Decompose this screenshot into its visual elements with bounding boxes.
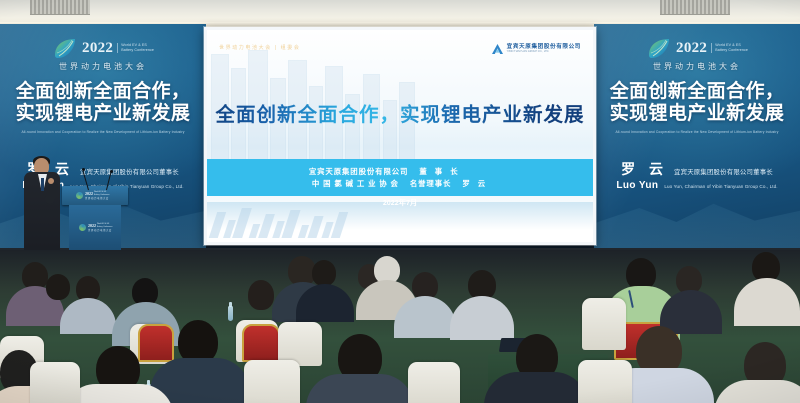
audience-shoulders bbox=[60, 298, 116, 334]
audience-head bbox=[312, 260, 336, 286]
audience-shoulders bbox=[714, 380, 800, 403]
globe-icon bbox=[646, 36, 672, 60]
podium-logo-front: 2022 World EV & ES Battery Conference 世界… bbox=[79, 223, 115, 232]
globe-icon bbox=[79, 224, 86, 231]
audience-shoulders bbox=[734, 278, 800, 326]
speaker-name-en: Luo Yun bbox=[616, 180, 658, 191]
audience-head bbox=[46, 274, 70, 300]
credits-org-1: 宜宾天原集团股份有限公司 bbox=[309, 166, 409, 177]
speaker-name-cn: 罗 云 bbox=[621, 159, 668, 179]
podium-logo-cn: 世界动力电池大会 bbox=[85, 196, 112, 200]
slide-credits-row-1: 宜宾天原集团股份有限公司 董 事 长 罗 云 bbox=[309, 166, 491, 177]
ceiling-vent-right bbox=[660, 0, 730, 15]
microphone-head-left bbox=[82, 168, 85, 171]
projection-screen: 世界动力电池大会 | 组委会 宜宾天原集团股份有限公司 YIBIN TIANYU… bbox=[204, 27, 596, 245]
audience-chair bbox=[242, 324, 280, 362]
conference-logo-year: 2022 bbox=[676, 41, 707, 56]
conference-logo-year: 2022 bbox=[82, 41, 113, 56]
speaker-role-en: Luo Yun, Chairman of Yibin Tianyuan Grou… bbox=[664, 184, 777, 189]
credits-org-2: 中 国 氯 碱 工 业 协 会 bbox=[312, 178, 399, 189]
banner-subtitle-english: All-round Innovation and Cooperation to … bbox=[608, 130, 786, 135]
mountain-a-icon bbox=[491, 42, 504, 54]
speaker-role-cn: 宜宾天原集团股份有限公司董事长 bbox=[80, 167, 179, 176]
corporate-name-en: YIBIN TIANYUAN GROUP CO., LTD. bbox=[507, 50, 581, 53]
conference-logo-english: World EV & ES Battery Conference bbox=[117, 43, 154, 53]
audience-chair bbox=[582, 298, 626, 350]
globe-icon bbox=[76, 192, 83, 199]
audience-area bbox=[0, 250, 800, 403]
audience-head bbox=[248, 280, 274, 310]
corporate-name-cn: 宜宾天原集团股份有限公司 bbox=[507, 42, 581, 50]
presentation-slide: 世界动力电池大会 | 组委会 宜宾天原集团股份有限公司 YIBIN TIANYU… bbox=[207, 30, 593, 242]
audience-chair bbox=[244, 360, 300, 403]
speaker-role-cn: 宜宾天原集团股份有限公司董事长 bbox=[674, 167, 773, 176]
slide-credits-band: 宜宾天原集团股份有限公司 董 事 长 罗 云 中 国 氯 碱 工 业 协 会 名… bbox=[207, 159, 593, 196]
ceiling-vent-left bbox=[30, 0, 90, 15]
banner-title: 全面创新全面合作， 实现锂电产业新发展 bbox=[610, 81, 785, 126]
audience-shoulders bbox=[450, 296, 514, 340]
audience-chair bbox=[408, 362, 460, 403]
microphone-head-right bbox=[110, 170, 113, 173]
slide-watermark: 世界动力电池大会 | 组委会 bbox=[219, 44, 300, 51]
conference-logo-chinese: 世界动力电池大会 bbox=[653, 61, 741, 72]
credits-role-1: 董 事 长 bbox=[419, 166, 460, 177]
credits-name: 罗 云 bbox=[462, 178, 488, 189]
slide-footer-graphic bbox=[207, 202, 593, 242]
audience-chair bbox=[578, 360, 632, 403]
podium: 2022 World EV & ES Battery Conference 世界… bbox=[62, 186, 128, 250]
podium-logo-cn: 世界动力电池大会 bbox=[88, 228, 115, 232]
audience-chair bbox=[30, 362, 80, 403]
banner-speaker-en-right: Luo Yun Luo Yun, Chairman of Yibin Tiany… bbox=[616, 180, 777, 191]
banner-subtitle-english: All-round Innovation and Cooperation to … bbox=[14, 130, 192, 135]
conference-hall-photo: 2022 World EV & ES Battery Conference 世界… bbox=[0, 0, 800, 403]
audience-shoulders bbox=[306, 374, 414, 403]
banner-title: 全面创新全面合作， 实现锂电产业新发展 bbox=[16, 81, 191, 126]
credits-role-2: 名誉理事长 bbox=[410, 178, 451, 189]
banner-speaker-cn-right: 罗 云 宜宾天原集团股份有限公司董事长 bbox=[621, 159, 773, 179]
podium-front-panel: 2022 World EV & ES Battery Conference 世界… bbox=[69, 205, 121, 250]
podium-logo-top: 2022 World EV & ES Battery Conference 世界… bbox=[76, 191, 112, 200]
water-bottle bbox=[228, 306, 233, 321]
globe-icon bbox=[52, 36, 78, 60]
conference-logo-english: World EV & ES Battery Conference bbox=[711, 43, 748, 53]
conference-logo-chinese: 世界动力电池大会 bbox=[59, 61, 147, 72]
slide-credits-row-2: 中 国 氯 碱 工 业 协 会 名誉理事长 罗 云 bbox=[312, 178, 488, 189]
slide-header: 世界动力电池大会 | 组委会 宜宾天原集团股份有限公司 YIBIN TIANYU… bbox=[207, 30, 593, 60]
corporate-logo: 宜宾天原集团股份有限公司 YIBIN TIANYUAN GROUP CO., L… bbox=[491, 42, 581, 54]
podium-top-panel: 2022 World EV & ES Battery Conference 世界… bbox=[62, 186, 128, 205]
backdrop-banner-right: 2022 World EV & ES Battery Conference 世界… bbox=[594, 24, 800, 250]
conference-logo-left: 2022 World EV & ES Battery Conference bbox=[52, 36, 154, 60]
speaker-tie bbox=[41, 178, 44, 191]
conference-logo-right: 2022 World EV & ES Battery Conference bbox=[646, 36, 748, 60]
slide-date: 2022年7月 bbox=[207, 198, 593, 208]
slide-title: 全面创新全面合作，实现锂电产业新发展 bbox=[207, 104, 593, 127]
audience-chair bbox=[138, 324, 174, 362]
audience-shoulders bbox=[484, 372, 588, 403]
speaker-hand bbox=[48, 178, 54, 184]
